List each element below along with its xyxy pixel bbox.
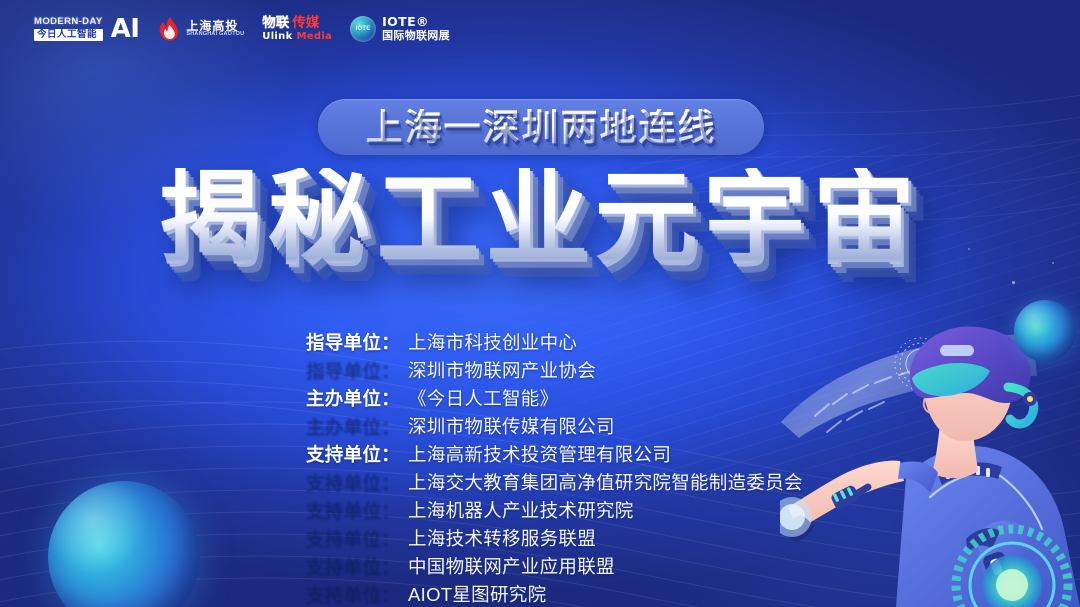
credit-label: 支持单位： bbox=[300, 442, 400, 468]
flame-icon bbox=[157, 16, 181, 42]
credit-value: 上海技术转移服务联盟 bbox=[408, 526, 596, 552]
credit-row: 指导单位：深圳市物联网产业协会 bbox=[300, 358, 803, 384]
logo-ulink-media-cn-red: 传媒 bbox=[292, 16, 319, 31]
credit-value: AIOT星图研究院 bbox=[408, 582, 546, 607]
subtitle-banner: 上海一深圳两地连线 bbox=[318, 99, 764, 155]
credit-label: 主办单位： bbox=[300, 386, 400, 412]
credit-row: 支持单位：AIOT星图研究院 bbox=[300, 582, 803, 607]
credit-row: 支持单位：上海机器人产业技术研究院 bbox=[300, 498, 803, 524]
credit-value: 《今日人工智能》 bbox=[408, 386, 558, 412]
logo-iote-en: IOTE® bbox=[382, 14, 450, 30]
credit-label: 指导单位： bbox=[300, 330, 400, 356]
credit-label-spacer: 支持单位： bbox=[300, 526, 400, 552]
globe-icon: IOTE bbox=[350, 16, 376, 42]
credit-row: 指导单位：上海市科技创业中心 bbox=[300, 330, 803, 356]
credit-label-spacer: 支持单位： bbox=[300, 498, 400, 524]
page-title-text: 揭秘工业元宇宙 bbox=[159, 168, 922, 271]
credits-block: 指导单位：上海市科技创业中心指导单位：深圳市物联网产业协会主办单位：《今日人工智… bbox=[300, 330, 803, 607]
credit-value: 深圳市物联传媒有限公司 bbox=[408, 414, 615, 440]
credit-value: 上海交大教育集团高净值研究院智能制造委员会 bbox=[408, 470, 803, 496]
poster-canvas: MODERN-DAY 今日人工智能 AI 上海高投 SHANGHAI GAOTO… bbox=[0, 0, 1080, 607]
planet-bottom-left bbox=[48, 481, 200, 607]
logo-iote-globe-text: IOTE bbox=[356, 26, 371, 32]
subtitle-text: 上海一深圳两地连线 bbox=[366, 109, 717, 146]
logo-modern-day-ai[interactable]: MODERN-DAY 今日人工智能 AI bbox=[34, 14, 139, 44]
logo-ulink-media-cn-white: 物联 bbox=[262, 16, 289, 31]
logo-modern-day-ai-en: MODERN-DAY bbox=[34, 17, 103, 27]
credit-value: 上海机器人产业技术研究院 bbox=[408, 498, 634, 524]
logo-shanghai-gaotou[interactable]: 上海高投 SHANGHAI GAOTOU bbox=[157, 16, 244, 42]
credit-row: 支持单位：中国物联网产业应用联盟 bbox=[300, 554, 803, 580]
credit-row: 支持单位：上海高新技术投资管理有限公司 bbox=[300, 442, 803, 468]
logo-iote-cn: 国际物联网展 bbox=[382, 30, 450, 44]
credit-row: 主办单位：深圳市物联传媒有限公司 bbox=[300, 414, 803, 440]
credit-row: 主办单位：《今日人工智能》 bbox=[300, 386, 803, 412]
credit-value: 中国物联网产业应用联盟 bbox=[408, 554, 615, 580]
credit-row: 支持单位：上海交大教育集团高净值研究院智能制造委员会 bbox=[300, 470, 803, 496]
logo-modern-day-ai-mark: AI bbox=[111, 14, 140, 44]
logo-shanghai-gaotou-en: SHANGHAI GAOTOU bbox=[186, 33, 244, 38]
sponsor-logo-bar: MODERN-DAY 今日人工智能 AI 上海高投 SHANGHAI GAOTO… bbox=[34, 14, 450, 44]
credit-value: 上海市科技创业中心 bbox=[408, 330, 577, 356]
logo-iote[interactable]: IOTE IOTE® 国际物联网展 bbox=[350, 14, 450, 43]
credit-row: 支持单位：上海技术转移服务联盟 bbox=[300, 526, 803, 552]
planet-top-right bbox=[1014, 300, 1076, 362]
credit-label-spacer: 主办单位： bbox=[300, 414, 400, 440]
credit-value: 上海高新技术投资管理有限公司 bbox=[408, 442, 671, 468]
page-title: 揭秘工业元宇宙 bbox=[0, 168, 1080, 271]
credit-label-spacer: 支持单位： bbox=[300, 554, 400, 580]
credit-label-spacer: 支持单位： bbox=[300, 582, 400, 607]
logo-modern-day-ai-cn: 今日人工智能 bbox=[34, 29, 103, 42]
logo-ulink-media-en-red: Media bbox=[297, 31, 333, 42]
credit-label-spacer: 指导单位： bbox=[300, 358, 400, 384]
credit-label-spacer: 支持单位： bbox=[300, 470, 400, 496]
logo-ulink-media-en-white: Ulink bbox=[262, 31, 292, 42]
credit-value: 深圳市物联网产业协会 bbox=[408, 358, 596, 384]
logo-ulink-media[interactable]: 物联 传媒 Ulink Media bbox=[262, 16, 332, 43]
